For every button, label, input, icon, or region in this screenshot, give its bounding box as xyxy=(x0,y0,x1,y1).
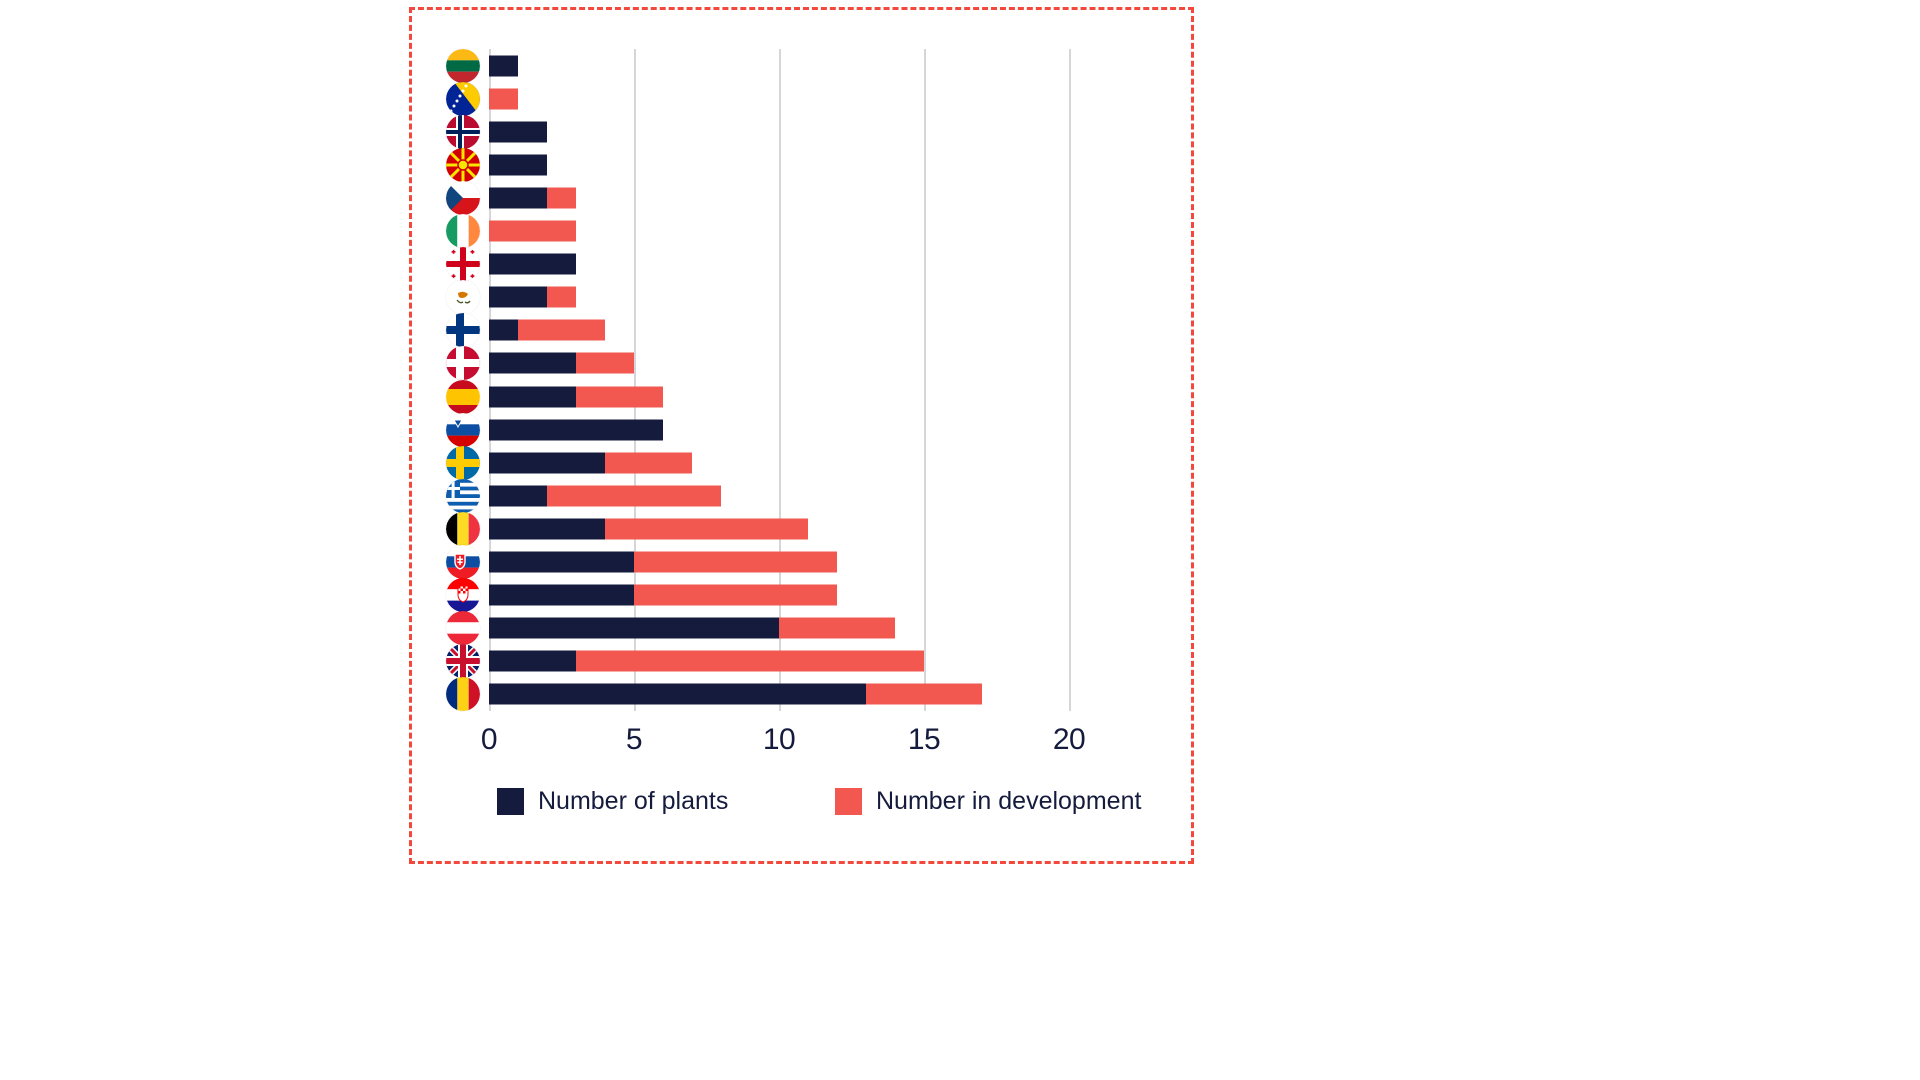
flag-icon-slovakia xyxy=(446,545,480,579)
bar-row-bosnia-and-herzegovina xyxy=(489,82,1069,115)
bar-segment-plants xyxy=(489,386,576,407)
flag-icon-lithuania xyxy=(446,49,480,83)
bar-segment-development xyxy=(547,187,576,208)
bar-rows xyxy=(489,49,1069,711)
bar-segment-development xyxy=(779,618,895,639)
x-tick-label-0: 0 xyxy=(481,723,497,757)
flag-icon-belgium xyxy=(446,512,480,546)
gridline-20 xyxy=(1069,49,1071,711)
bar-segment-development xyxy=(489,88,518,109)
legend-item-development: Number in development xyxy=(835,787,1141,816)
bar-segment-plants xyxy=(489,320,518,341)
bar-segment-plants xyxy=(489,452,605,473)
plot-area xyxy=(489,49,1069,711)
bar-row-sweden xyxy=(489,446,1069,479)
legend-item-plants: Number of plants xyxy=(497,787,728,816)
x-tick-label-10: 10 xyxy=(763,723,795,757)
flag-icon-bosnia-and-herzegovina xyxy=(446,82,480,116)
flag-icon-united-kingdom xyxy=(446,644,480,678)
bar-row-austria xyxy=(489,612,1069,645)
bar-segment-development xyxy=(547,287,576,308)
bar-segment-plants xyxy=(489,552,634,573)
flag-icon-cyprus xyxy=(446,280,480,314)
bar-segment-development xyxy=(576,651,924,672)
bar-segment-development xyxy=(866,684,982,705)
bar-segment-plants xyxy=(489,121,547,142)
bar-segment-plants xyxy=(489,187,547,208)
bar-segment-plants xyxy=(489,518,605,539)
bar-row-denmark xyxy=(489,347,1069,380)
bar-row-united-kingdom xyxy=(489,645,1069,678)
flag-icon-denmark xyxy=(446,346,480,380)
bar-row-norway xyxy=(489,115,1069,148)
bar-segment-plants xyxy=(489,585,634,606)
flag-icon-georgia xyxy=(446,247,480,281)
flag-icon-ireland xyxy=(446,214,480,248)
stacked-bar-chart: 05101520 Number of plants Number in deve… xyxy=(409,7,1194,864)
x-tick-label-15: 15 xyxy=(908,723,940,757)
bar-row-romania xyxy=(489,678,1069,711)
bar-row-slovenia xyxy=(489,413,1069,446)
bar-row-belgium xyxy=(489,512,1069,545)
chart-legend: Number of plants Number in development xyxy=(497,787,1197,837)
bar-segment-development xyxy=(489,221,576,242)
x-tick-label-5: 5 xyxy=(626,723,642,757)
legend-label-development: Number in development xyxy=(876,787,1141,816)
bar-segment-development xyxy=(634,552,837,573)
flag-icon-greece xyxy=(446,479,480,513)
legend-label-plants: Number of plants xyxy=(538,787,728,816)
flag-icon-norway xyxy=(446,115,480,149)
bar-segment-plants xyxy=(489,55,518,76)
bar-row-finland xyxy=(489,314,1069,347)
bar-row-north-macedonia xyxy=(489,148,1069,181)
bar-segment-plants xyxy=(489,485,547,506)
flag-icon-romania xyxy=(446,677,480,711)
bar-row-lithuania xyxy=(489,49,1069,82)
x-tick-label-20: 20 xyxy=(1053,723,1085,757)
bar-row-spain xyxy=(489,380,1069,413)
bar-segment-plants xyxy=(489,287,547,308)
bar-row-czechia xyxy=(489,181,1069,214)
flag-icon-slovenia xyxy=(446,413,480,447)
flag-icon-finland xyxy=(446,313,480,347)
screenshot-root: 05101520 Number of plants Number in deve… xyxy=(0,0,1920,1080)
flag-icon-sweden xyxy=(446,446,480,480)
legend-swatch-development xyxy=(835,788,862,815)
bar-row-croatia xyxy=(489,579,1069,612)
x-axis-ticks: 05101520 xyxy=(489,711,1069,757)
legend-swatch-plants xyxy=(497,788,524,815)
bar-segment-development xyxy=(605,518,808,539)
bar-segment-plants xyxy=(489,684,866,705)
flag-icon-spain xyxy=(446,380,480,414)
bar-segment-plants xyxy=(489,618,779,639)
flag-icon-austria xyxy=(446,611,480,645)
bar-row-ireland xyxy=(489,215,1069,248)
bar-row-georgia xyxy=(489,248,1069,281)
bar-row-cyprus xyxy=(489,281,1069,314)
flag-icon-north-macedonia xyxy=(446,148,480,182)
bar-segment-development xyxy=(605,452,692,473)
bar-row-slovakia xyxy=(489,546,1069,579)
bar-segment-development xyxy=(518,320,605,341)
bar-segment-plants xyxy=(489,419,663,440)
bar-segment-development xyxy=(547,485,721,506)
bar-segment-development xyxy=(576,353,634,374)
flag-icon-croatia xyxy=(446,578,480,612)
bar-segment-plants xyxy=(489,154,547,175)
flag-icon-czechia xyxy=(446,181,480,215)
bar-segment-plants xyxy=(489,651,576,672)
bar-row-greece xyxy=(489,479,1069,512)
bar-segment-plants xyxy=(489,254,576,275)
bar-segment-plants xyxy=(489,353,576,374)
bar-segment-development xyxy=(576,386,663,407)
bar-segment-development xyxy=(634,585,837,606)
